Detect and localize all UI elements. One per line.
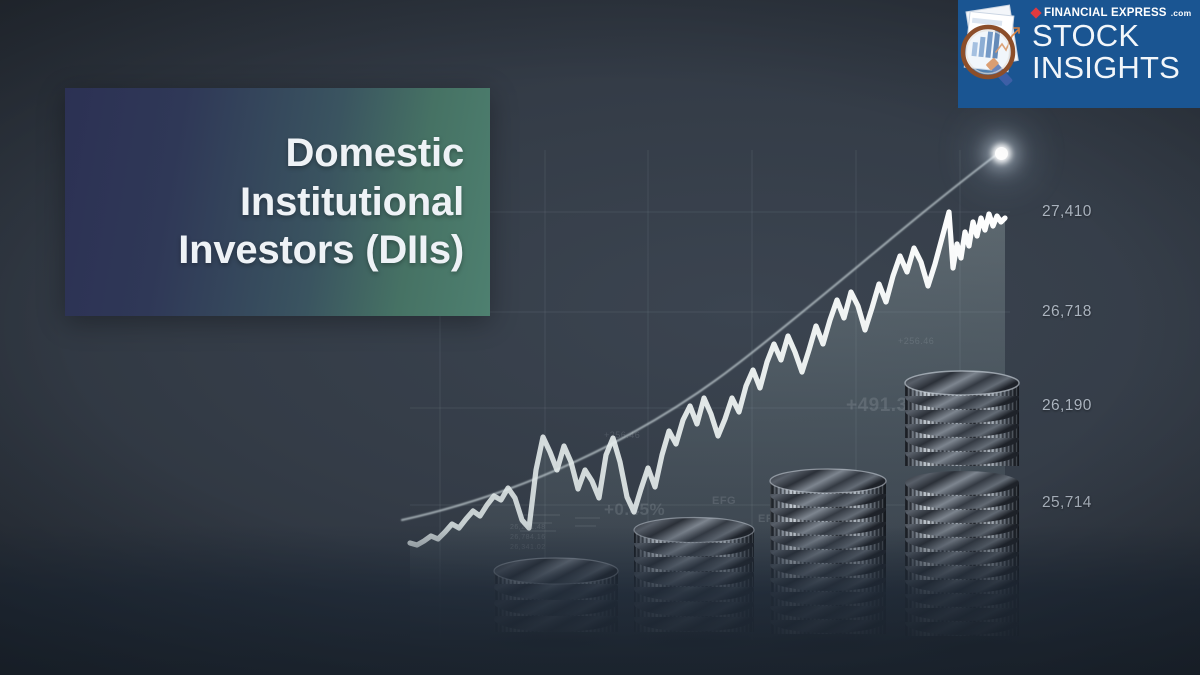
logo-kicker-suffix: .com (1171, 8, 1192, 18)
page-title-line-2: Institutional (178, 178, 464, 227)
diamond-icon (1030, 7, 1041, 18)
page-title: Domestic Institutional Investors (DIIs) (178, 129, 464, 275)
brand-logo-badge[interactable]: FINANCIAL EXPRESS .com STOCK INSIGHTS (958, 0, 1200, 108)
logo-title-line-1: STOCK (1032, 20, 1194, 52)
page-title-line-1: Domestic (178, 129, 464, 178)
magnifier-chart-icon (958, 0, 1030, 108)
logo-title-line-2: INSIGHTS (1032, 52, 1194, 84)
logo-title: STOCK INSIGHTS (1032, 20, 1194, 83)
page-title-line-3: Investors (DIIs) (178, 226, 464, 275)
title-card: Domestic Institutional Investors (DIIs) (65, 88, 490, 316)
screenshot-stage: +491.38 +0.45% +256.46 +256.46 EFG EFG 2… (0, 0, 1200, 675)
logo-text-group: FINANCIAL EXPRESS .com STOCK INSIGHTS (1030, 0, 1200, 108)
